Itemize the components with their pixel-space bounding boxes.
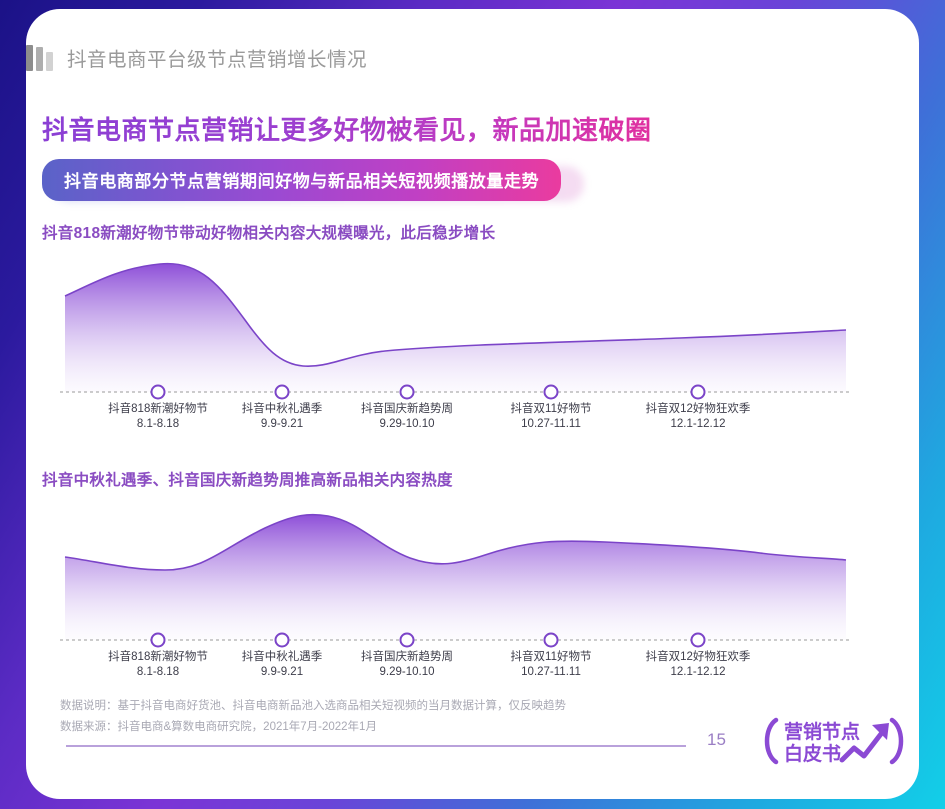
marker-name: 抖音中秋礼遇季 — [242, 403, 323, 415]
page-number: 15 — [707, 730, 726, 750]
logo-bracket-left — [767, 720, 776, 762]
chart-1: 抖音818新潮好物节 8.1-8.18 抖音中秋礼遇季 9.9-9.21 抖音国… — [60, 252, 850, 444]
marker-dates: 9.9-9.21 — [242, 417, 323, 432]
chart-2-marker-3 — [545, 634, 558, 647]
chart-2-axis-labels: 抖音818新潮好物节 8.1-8.18 抖音中秋礼遇季 9.9-9.21 抖音国… — [60, 650, 850, 692]
chart-1-label-3: 抖音双11好物节 10.27-11.11 — [511, 402, 592, 432]
chart-2-marker-4 — [692, 634, 705, 647]
logo-line-1: 营销节点 — [784, 720, 860, 743]
marker-name: 抖音818新潮好物节 — [108, 403, 208, 415]
chart-2-area-fill — [65, 515, 846, 640]
chart-2-marker-0 — [152, 634, 165, 647]
page-header: 抖音电商平台级节点营销增长情况 — [26, 43, 367, 72]
page-title: 抖音电商节点营销让更多好物被看见，新品加速破圈 — [42, 110, 652, 147]
footnotes: 数据说明：基于抖音电商好货池、抖音电商新品池入选商品相关短视频的当月数据计算，仅… — [60, 696, 566, 738]
chart-1-marker-0 — [152, 386, 165, 399]
section-banner: 抖音电商部分节点营销期间好物与新品相关短视频播放量走势 — [42, 159, 561, 201]
marker-name: 抖音国庆新趋势周 — [361, 403, 453, 415]
chart-2-label-0: 抖音818新潮好物节 8.1-8.18 — [108, 650, 208, 680]
chart-2-label-3: 抖音双11好物节 10.27-11.11 — [511, 650, 592, 680]
marker-dates: 9.9-9.21 — [242, 665, 323, 680]
marker-name: 抖音双12好物狂欢季 — [646, 403, 751, 415]
chart-2-marker-2 — [401, 634, 414, 647]
chart-2-label-4: 抖音双12好物狂欢季 12.1-12.12 — [646, 650, 751, 680]
marker-dates: 8.1-8.18 — [108, 665, 208, 680]
marker-name: 抖音双11好物节 — [511, 651, 592, 663]
chart-1-axis-labels: 抖音818新潮好物节 8.1-8.18 抖音中秋礼遇季 9.9-9.21 抖音国… — [60, 402, 850, 444]
banner-wrapper: 抖音电商部分节点营销期间好物与新品相关短视频播放量走势 — [42, 159, 561, 201]
footnote-data-source: 数据来源：抖音电商&算数电商研究院，2021年7月-2022年1月 — [60, 717, 566, 738]
marker-dates: 10.27-11.11 — [511, 665, 592, 680]
marker-dates: 8.1-8.18 — [108, 417, 208, 432]
chart-1-label-0: 抖音818新潮好物节 8.1-8.18 — [108, 402, 208, 432]
chart-1-label-1: 抖音中秋礼遇季 9.9-9.21 — [242, 402, 323, 432]
chart-2-label-1: 抖音中秋礼遇季 9.9-9.21 — [242, 650, 323, 680]
logo-bracket-right — [892, 720, 901, 762]
marker-dates: 10.27-11.11 — [511, 417, 592, 432]
logo-line-2: 白皮书 — [784, 742, 841, 765]
chart-2-marker-1 — [276, 634, 289, 647]
chart-2-caption: 抖音中秋礼遇季、抖音国庆新趋势周推高新品相关内容热度 — [42, 468, 453, 490]
chart-1-marker-3 — [545, 386, 558, 399]
chart-1-marker-2 — [401, 386, 414, 399]
header-title: 抖音电商平台级节点营销增长情况 — [67, 43, 367, 72]
marker-name: 抖音818新潮好物节 — [108, 651, 208, 663]
chart-1-area-fill — [65, 264, 846, 392]
chart-1-area-svg — [60, 252, 850, 400]
footer-divider — [66, 745, 686, 747]
marker-name: 抖音国庆新趋势周 — [361, 651, 453, 663]
chart-2-area-svg — [60, 500, 850, 648]
footnote-data-description: 数据说明：基于抖音电商好货池、抖音电商新品池入选商品相关短视频的当月数据计算，仅… — [60, 696, 566, 717]
marker-name: 抖音中秋礼遇季 — [242, 651, 323, 663]
chart-1-marker-1 — [276, 386, 289, 399]
brand-logo: 营销节点 白皮书 — [758, 712, 910, 770]
marker-dates: 9.29-10.10 — [361, 417, 453, 432]
chart-1-label-2: 抖音国庆新趋势周 9.29-10.10 — [361, 402, 453, 432]
chart-2-label-2: 抖音国庆新趋势周 9.29-10.10 — [361, 650, 453, 680]
chart-2: 抖音818新潮好物节 8.1-8.18 抖音中秋礼遇季 9.9-9.21 抖音国… — [60, 500, 850, 692]
chart-1-label-4: 抖音双12好物狂欢季 12.1-12.12 — [646, 402, 751, 432]
marker-name: 抖音双12好物狂欢季 — [646, 651, 751, 663]
marker-dates: 12.1-12.12 — [646, 665, 751, 680]
chart-1-marker-4 — [692, 386, 705, 399]
marker-dates: 9.29-10.10 — [361, 665, 453, 680]
chart-1-caption: 抖音818新潮好物节带动好物相关内容大规模曝光，此后稳步增长 — [42, 221, 495, 243]
marker-dates: 12.1-12.12 — [646, 417, 751, 432]
marker-name: 抖音双11好物节 — [511, 403, 592, 415]
bar-chart-icon — [26, 45, 53, 71]
